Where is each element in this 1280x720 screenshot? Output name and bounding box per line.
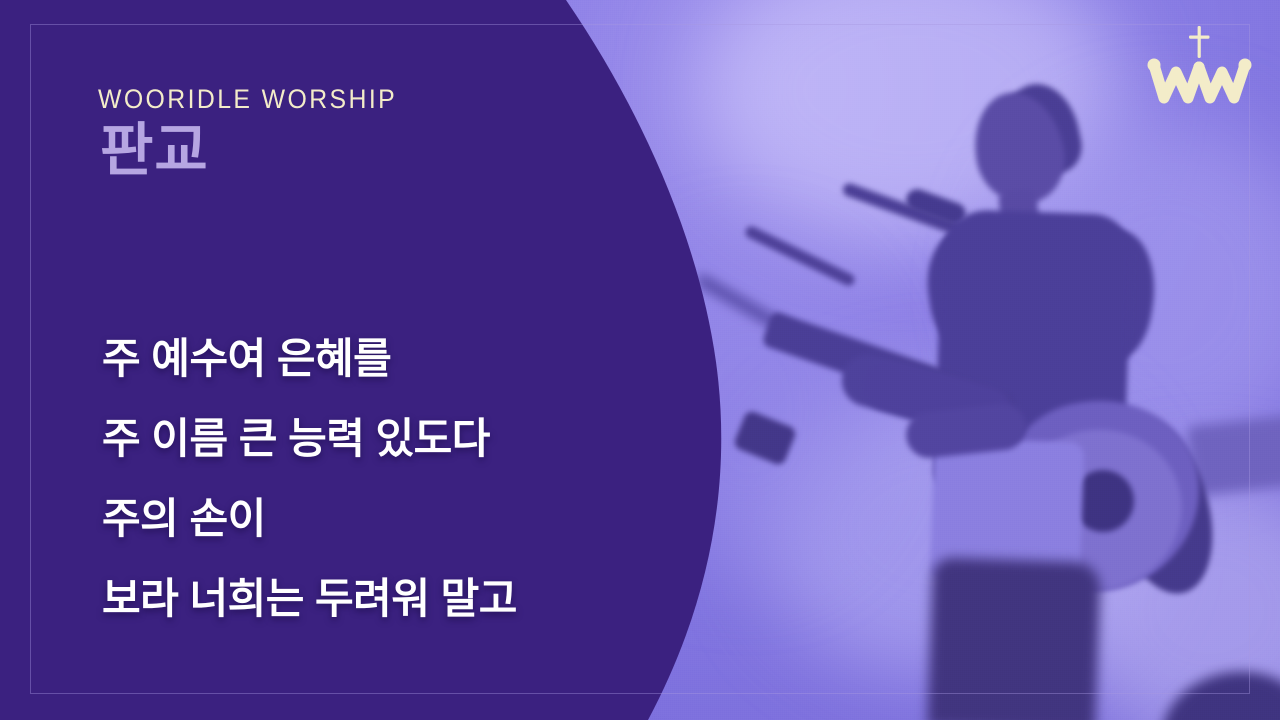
slide-content: WOORIDLE WORSHIP 판교 주 예수여 은혜를 주 이름 큰 능력 … <box>0 0 1280 720</box>
lyric-line: 보라 너희는 두려워 말고 <box>102 578 662 620</box>
lyric-line: 주의 손이 <box>102 498 662 540</box>
cross-icon <box>1189 26 1210 58</box>
ww-monogram-caps <box>1148 59 1252 73</box>
lyric-line: 주 이름 큰 능력 있도다 <box>102 418 662 460</box>
lyric-line: 주 예수여 은혜를 <box>102 338 662 380</box>
wooridle-worship-logo <box>1140 22 1260 110</box>
lyrics-block: 주 예수여 은혜를 주 이름 큰 능력 있도다 주의 손이 보라 너희는 두려워… <box>102 338 662 620</box>
page-title: 판교 <box>100 122 209 180</box>
worship-lyrics-slide: WOORIDLE WORSHIP 판교 주 예수여 은혜를 주 이름 큰 능력 … <box>0 0 1280 720</box>
brand-eyebrow: WOORIDLE WORSHIP <box>98 84 397 115</box>
